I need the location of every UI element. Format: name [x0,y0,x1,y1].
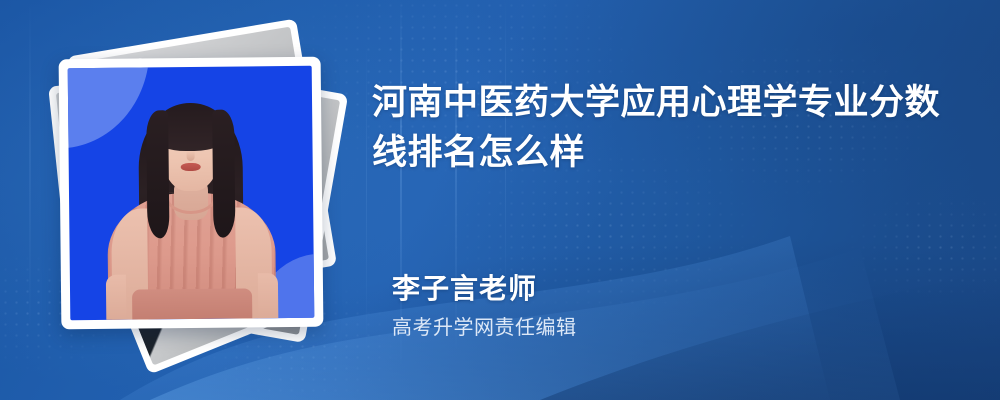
author-portrait-photo [68,66,315,321]
portrait-arm-right [258,273,278,319]
photo-card-front [59,57,324,330]
article-title: 河南中医药大学应用心理学专业分数线排名怎么样 [372,78,952,177]
portrait-waistband [132,288,252,319]
photo-card-stack [52,30,352,350]
portrait-hair-side-right [212,109,235,237]
portrait-hair-side-left [146,110,169,238]
author-role: 高考升学网责任编辑 [392,316,577,340]
banner-text-content: 河南中医药大学应用心理学专业分数线排名怎么样 李子言老师 高考升学网责任编辑 [372,0,972,400]
article-cover-banner: 河南中医药大学应用心理学专业分数线排名怎么样 李子言老师 高考升学网责任编辑 [0,0,1000,400]
author-byline: 李子言老师 高考升学网责任编辑 [392,272,577,340]
portrait-arm-left [106,274,126,320]
portrait-figure [68,66,315,321]
author-name: 李子言老师 [392,272,577,306]
